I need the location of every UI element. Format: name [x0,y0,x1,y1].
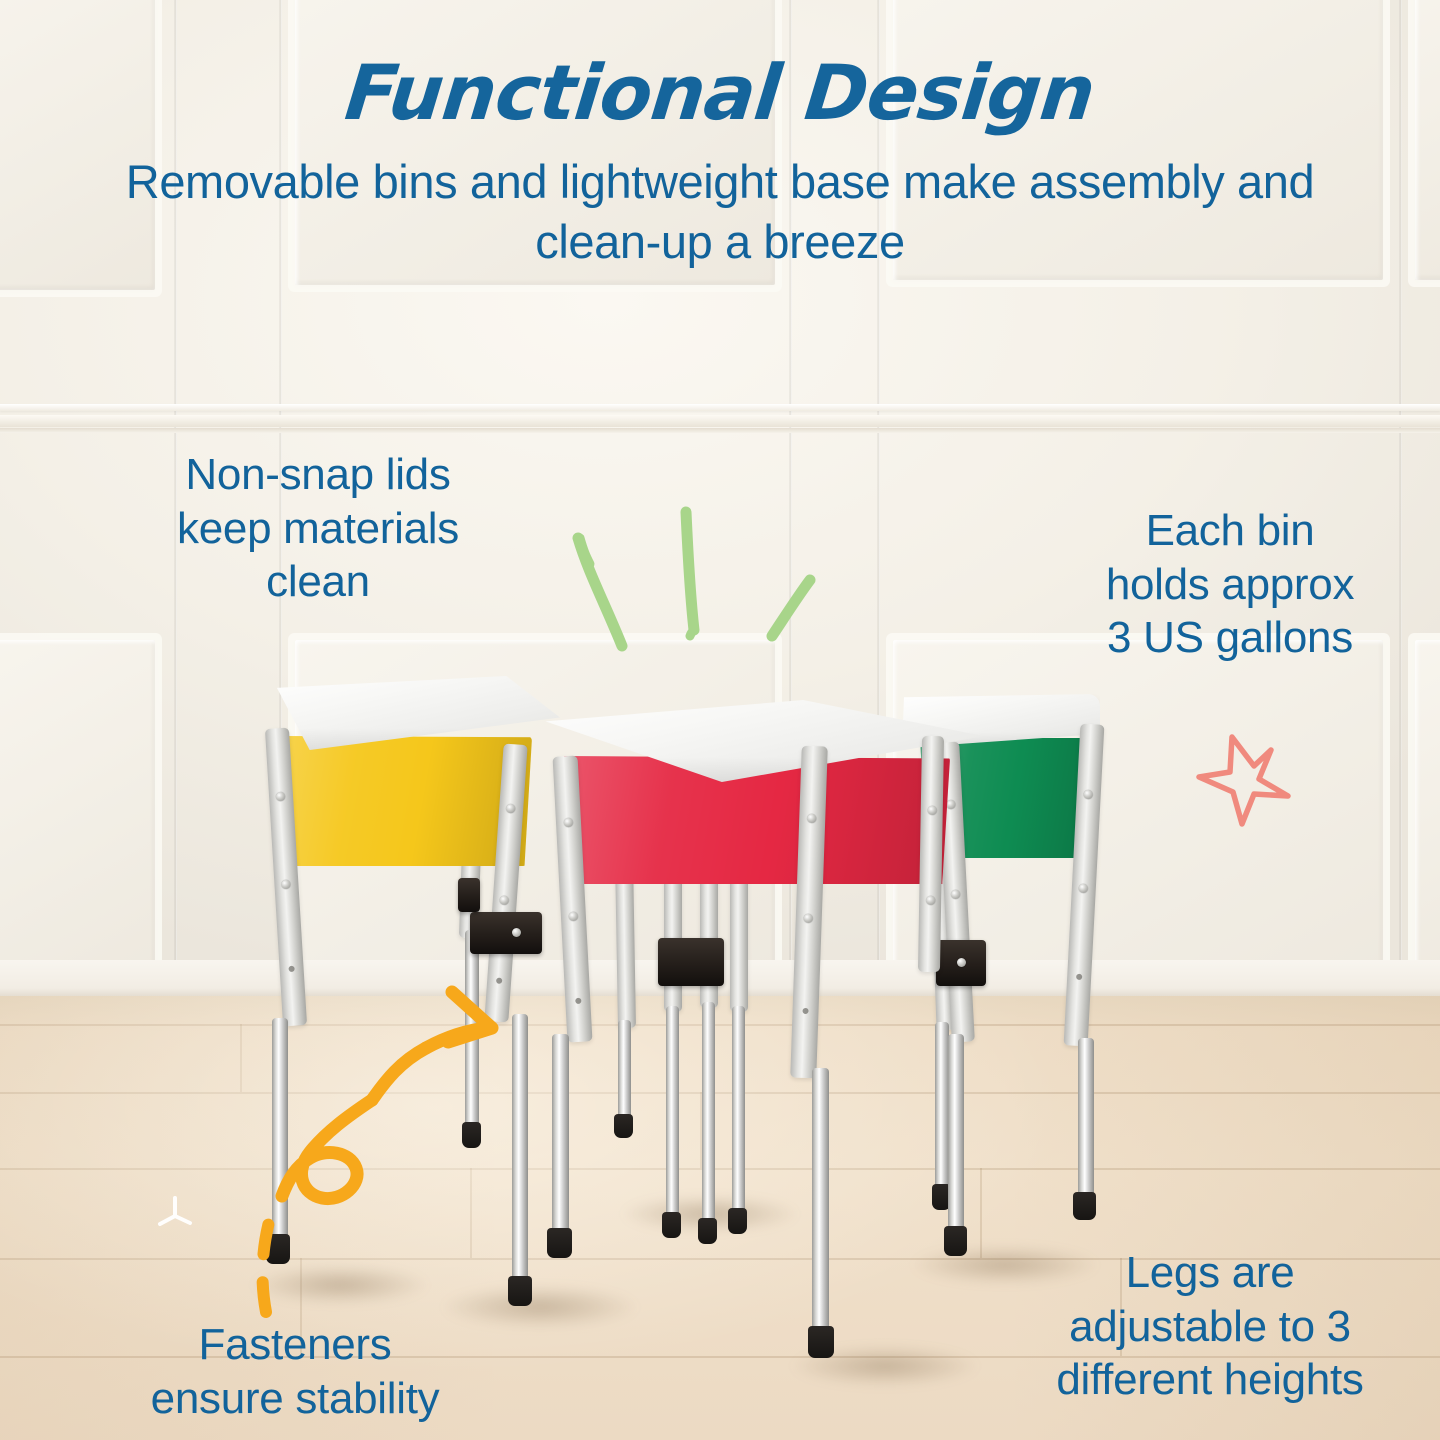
leg-foot [662,1212,681,1238]
callout-adjustable-legs: Legs are adjustable to 3 different heigh… [980,1246,1440,1407]
leg-extension [732,1006,745,1214]
leg-foot [614,1114,633,1138]
wall-panel [1415,0,1440,280]
page-title: Functional Design [0,48,1440,137]
page-subtitle: Removable bins and lightweight base make… [120,152,1320,272]
coral-star-icon [1185,722,1315,852]
leg-foot [1073,1192,1096,1220]
white-sparkle-icon [150,1190,200,1240]
chair-rail [0,428,1440,433]
leg-foot [728,1208,747,1234]
leg-foot [698,1218,717,1244]
leg-extension [512,1014,528,1282]
leg-extension [948,1034,964,1232]
leg-foot [508,1276,532,1306]
leg-extension [552,1034,569,1234]
leg-extension [1078,1038,1094,1198]
orange-curved-arrow [230,880,510,1320]
leg-fastener-clip [936,940,986,986]
leg-extension [935,1022,949,1190]
table-leg [918,736,944,972]
leg-foot [944,1226,967,1256]
leg-extension [618,1020,631,1120]
leg-extension [812,1068,829,1332]
wall-panel [1415,640,1440,970]
leg-extension [666,1006,679,1218]
product-feature-graphic: Functional Design Removable bins and lig… [0,0,1440,1440]
leg-foot [547,1228,572,1258]
chair-rail [0,404,1440,411]
callout-bin-capacity: Each bin holds approx 3 US gallons [1020,504,1440,665]
callout-non-snap-lids: Non-snap lids keep materials clean [78,448,558,609]
wall-panel-seam [1399,0,1402,998]
wall-panel [0,640,155,970]
callout-fasteners: Fasteners ensure stability [60,1318,530,1425]
yellow-bin [282,736,532,866]
chair-rail [0,415,1440,427]
leg-fastener-clip [658,938,724,986]
leg-foot [808,1326,834,1358]
leg-extension [702,1002,715,1224]
green-sparkle-strokes [560,490,840,670]
